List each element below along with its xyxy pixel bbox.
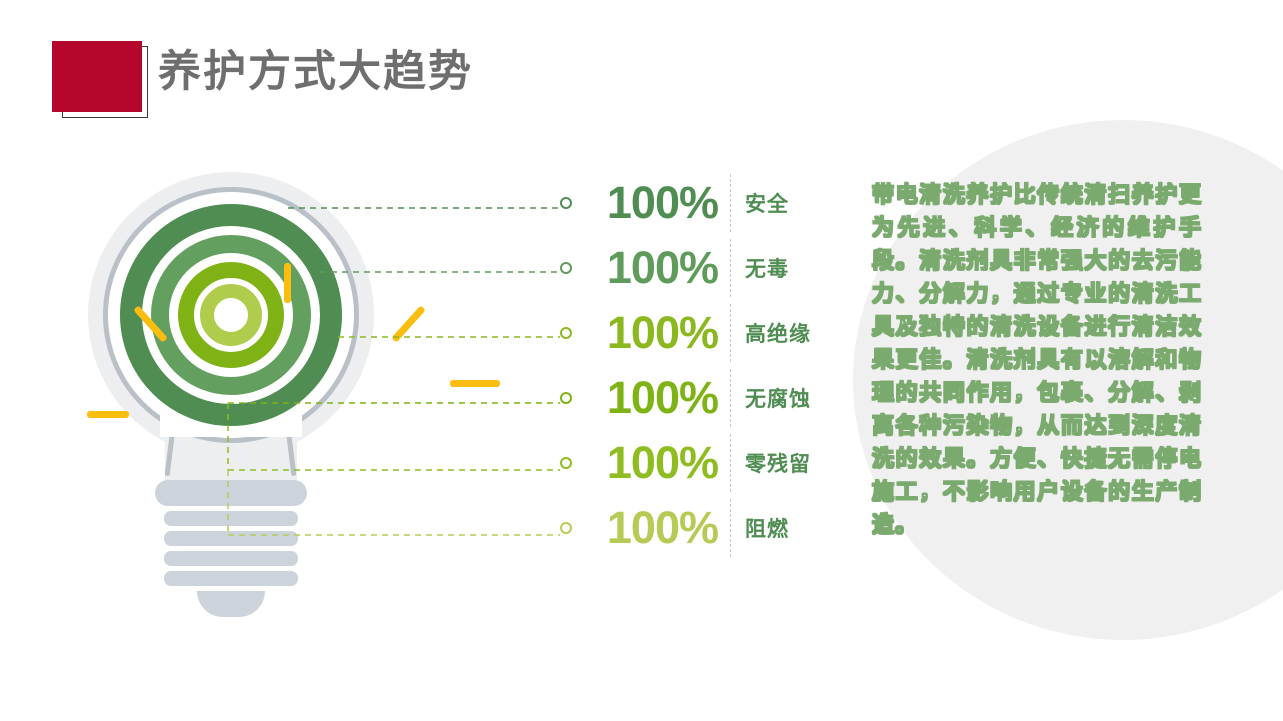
connector-marker-icon <box>560 327 572 339</box>
metric-row[interactable]: 100% 零残留 <box>560 430 860 495</box>
metric-row[interactable]: 100% 无腐蚀 <box>560 365 860 430</box>
page-title: 养护方式大趋势 <box>158 40 473 104</box>
bulb-base-collar <box>155 480 307 506</box>
metric-value: 100% <box>578 437 718 489</box>
bulb-base-band <box>164 551 298 566</box>
bulb-base-band <box>164 511 298 526</box>
connector-marker-icon <box>560 197 572 209</box>
metric-value: 100% <box>578 242 718 294</box>
metric-label: 无腐蚀 <box>745 383 811 413</box>
metrics-list: 100% 安全 100% 无毒 100% 高绝缘 100% 无腐蚀 100% 零… <box>560 170 860 560</box>
title-accent-square <box>52 41 142 112</box>
metric-value: 100% <box>578 372 718 424</box>
bulb-base-band <box>164 531 298 546</box>
metric-label: 零残留 <box>745 448 811 478</box>
row-divider <box>730 499 731 557</box>
metric-label: 安全 <box>745 188 789 218</box>
connector-marker-icon <box>560 262 572 274</box>
metric-label: 无毒 <box>745 253 789 283</box>
ray-left-icon <box>87 411 129 418</box>
metric-row[interactable]: 100% 无毒 <box>560 235 860 300</box>
metric-value: 100% <box>578 502 718 554</box>
info-paragraph: 带电清洗养护比传统清扫养护更为先进、科学、经济的维护手段。清洗剂具非常强大的去污… <box>872 178 1202 541</box>
bulb-base-tip <box>197 591 265 617</box>
connector-marker-icon <box>560 522 572 534</box>
row-divider <box>730 174 731 232</box>
row-divider <box>730 434 731 492</box>
bulb-base-band <box>164 571 298 586</box>
connector-marker-icon <box>560 457 572 469</box>
metric-value: 100% <box>578 307 718 359</box>
metric-row[interactable]: 100% 高绝缘 <box>560 300 860 365</box>
row-divider <box>730 239 731 297</box>
ray-upper-right-icon <box>391 305 426 342</box>
lightbulb-illustration <box>60 150 420 590</box>
row-divider <box>730 369 731 427</box>
metric-label: 高绝缘 <box>745 318 811 348</box>
metric-label: 阻燃 <box>745 513 789 543</box>
ray-top-icon <box>284 263 291 303</box>
connector-marker-icon <box>560 392 572 404</box>
ray-right-icon <box>450 380 500 387</box>
metric-value: 100% <box>578 177 718 229</box>
metric-row[interactable]: 100% 阻燃 <box>560 495 860 560</box>
row-divider <box>730 304 731 362</box>
ring-inner-icon <box>200 284 262 346</box>
metric-row[interactable]: 100% 安全 <box>560 170 860 235</box>
